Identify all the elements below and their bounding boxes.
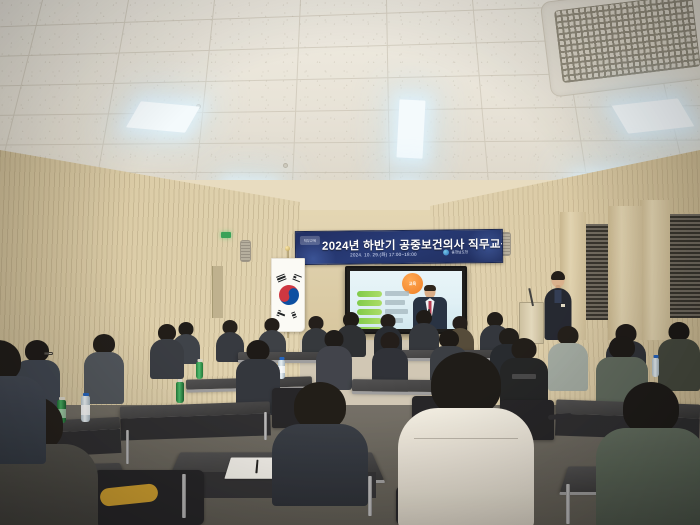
wall-door[interactable] <box>212 266 223 318</box>
water-bottle-green[interactable] <box>176 382 184 403</box>
slide-bullet-text <box>385 291 409 296</box>
foreground-attendee-white-jacket <box>398 352 534 525</box>
ac-grille <box>554 0 700 83</box>
table-leg <box>368 476 372 516</box>
presenter-hair <box>551 271 565 280</box>
presenter-name-badge <box>561 304 565 307</box>
banner-subtitle: 2024. 10. 29.(화) 17:00~18:00 <box>350 252 417 259</box>
wall-vent-grille <box>586 224 608 320</box>
flag-finial-icon <box>285 246 290 251</box>
foreground-attendee-far-left <box>0 340 46 460</box>
attendee-jacket <box>596 428 700 525</box>
wall-pillar <box>608 206 642 340</box>
attendee-head <box>431 352 501 416</box>
attendee <box>316 330 352 386</box>
trigram-geon-icon <box>276 274 287 284</box>
attendee <box>84 334 124 400</box>
attendee <box>548 326 588 386</box>
banner-right-logo: 충청남도청 <box>443 249 468 255</box>
attendee-head <box>294 382 346 430</box>
attendee-jacket <box>398 408 534 525</box>
water-bottle[interactable] <box>652 358 659 377</box>
attendee-head <box>609 336 635 359</box>
exit-sign-icon <box>221 232 231 238</box>
organization-name: 충청남도청 <box>452 250 469 255</box>
lecture-hall-photo: SAMSUNG <box>0 0 700 525</box>
sprinkler-head <box>283 163 288 168</box>
attendee-jacket <box>0 376 46 464</box>
trigram-gam-icon <box>292 274 302 283</box>
trigram-gon-icon <box>291 310 302 320</box>
attendee-head <box>247 340 270 361</box>
attendee-head <box>93 334 115 354</box>
attendee-body <box>548 343 588 391</box>
attendee-jacket <box>272 424 368 506</box>
foreground-attendee-mid-left <box>272 382 368 502</box>
attendee-body <box>150 339 184 379</box>
slide-bullet-text <box>385 300 405 305</box>
wall-pillar <box>640 200 670 340</box>
attendee <box>150 324 184 376</box>
presenter-hair <box>424 285 436 291</box>
jacket-seam <box>414 438 518 439</box>
table-leg <box>566 484 570 524</box>
taeguk-symbol-icon <box>276 282 302 308</box>
presenter-blouse <box>555 290 562 303</box>
table-leg <box>182 474 186 518</box>
attendee-head <box>623 382 679 434</box>
banner-left-logo: 직무교육 <box>300 236 320 245</box>
slide-bullet <box>357 291 382 297</box>
bottle-cap <box>178 379 183 382</box>
organization-logo-icon <box>443 249 449 255</box>
wall-speaker <box>240 240 251 262</box>
bottle-cap <box>197 359 202 362</box>
slide-bullet <box>357 300 382 306</box>
table-leg <box>126 430 129 464</box>
event-banner: 직무교육 2024년 하반기 공중보건의사 직무교육 2024. 10. 29.… <box>295 229 503 265</box>
water-bottle[interactable] <box>196 362 203 379</box>
ceiling-light-panel <box>397 99 426 158</box>
wall-vent-grille <box>670 214 700 318</box>
foreground-attendee-right <box>596 382 700 525</box>
attendee <box>658 322 700 386</box>
table-leg <box>264 412 267 440</box>
bottle-cap <box>653 355 658 358</box>
